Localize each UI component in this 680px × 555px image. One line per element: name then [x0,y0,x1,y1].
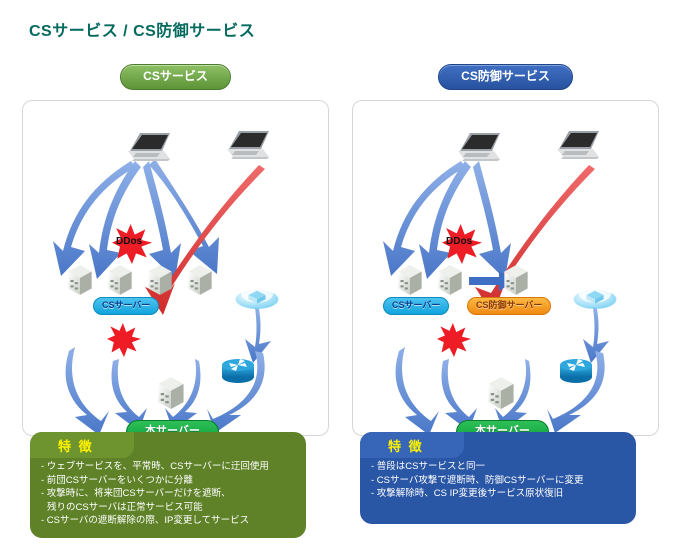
laptop-icon-attacker-right [555,129,601,161]
ddos-label-right: DDos [446,236,472,247]
server-icon-cs-4 [185,262,211,296]
feature-box-cs-defense-service: 特 徴 - 普段はCSサービスと同一 - CSサーバ攻撃で遮断時、防御CSサーバ… [360,432,636,524]
list-item: - ウェブサービスを、平常時、CSサーバーに迂回使用 [41,460,306,474]
laptop-icon-client-1-right [456,131,502,163]
router-icon-left [219,355,253,385]
feature-box-cs-service: 特 徴 - ウェブサービスを、平常時、CSサーバーに迂回使用 - 前団CSサーバ… [30,432,306,538]
server-icon-main-left [155,373,181,407]
list-item: - CSサーバ攻撃で遮断時、防御CSサーバーに変更 [371,474,636,488]
list-item: - 攻撃時に、将来団CSサーバーだけを遮断、 [41,487,306,501]
cloud-switch-icon-right [572,280,614,308]
page-title: CSサービス / CS防御サービス [29,17,255,41]
laptop-icon-client-1 [126,131,172,163]
explosion-burst-icon-block-right [437,323,471,362]
feature-tab-left: 特 徴 [30,432,134,458]
server-icon-main-right [485,373,511,407]
tag-defense-server-right[interactable]: CS防御サーバー [467,297,551,315]
explosion-burst-icon-block-left [107,323,141,362]
list-item: - 普段はCSサービスと同一 [371,460,636,474]
server-icon-cs-1 [65,262,91,296]
list-item: - 攻撃解除時、CS IP変更後サービス原状復旧 [371,487,636,501]
feature-title-right: 特 徴 [388,436,424,455]
cloud-switch-icon-left [234,280,276,308]
feature-tab-right: 特 徴 [360,432,464,458]
feature-list-left: - ウェブサービスを、平常時、CSサーバーに迂回使用 - 前団CSサーバーをいく… [30,460,306,528]
panel-header-cs-service[interactable]: CSサービス [120,64,231,90]
diagram-cs-service: DDos CSサーバー 本サーバー [22,100,329,436]
feature-title-left: 特 徴 [58,436,94,455]
panel-header-cs-defense-service[interactable]: CS防御サービス [438,64,573,90]
router-icon-right [557,355,591,385]
tag-cs-server-right[interactable]: CSサーバー [383,297,449,315]
laptop-icon-attacker [225,129,271,161]
list-item: 残りのCSサーバは正常サービス可能 [41,501,306,515]
panel-cs-defense-service: CS防御サービス [352,64,659,436]
ddos-label-left: DDos [116,236,142,247]
tag-cs-server-left[interactable]: CSサーバー [93,297,159,315]
diagram-cs-defense-service: DDos CSサーバー CS防御サーバー 本サーバー [352,100,659,436]
list-item: - CSサーバの遮断解除の際、IP変更してサービス [41,514,306,528]
panel-cs-service: CSサービス [22,64,329,436]
server-icon-defense-right [501,262,527,296]
server-icon-cs-1-right [395,262,421,296]
feature-list-right: - 普段はCSサービスと同一 - CSサーバ攻撃で遮断時、防御CSサーバーに変更… [360,460,636,501]
list-item: - 前団CSサーバーをいくつかに分離 [41,474,306,488]
